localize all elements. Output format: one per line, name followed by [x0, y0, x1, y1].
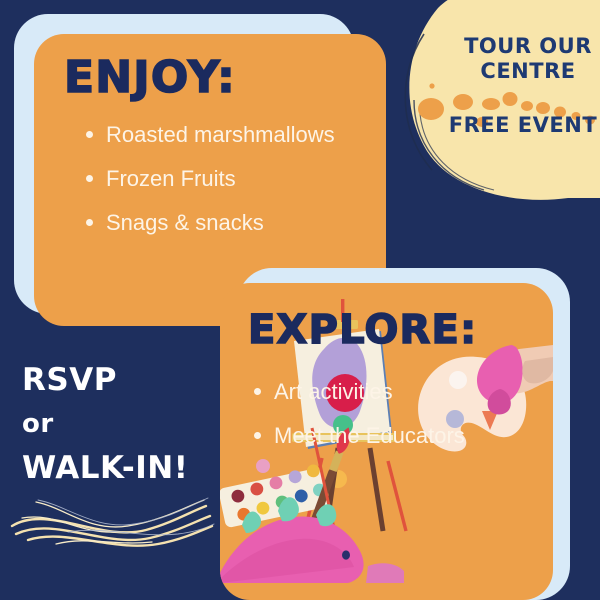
list-item: Art activities: [248, 379, 548, 405]
poster-canvas: ENJOY: Roasted marshmallows Frozen Fruit…: [0, 0, 600, 600]
blob-shape-icon: [398, 0, 600, 204]
list-item: Frozen Fruits: [80, 166, 350, 192]
list-item: Roasted marshmallows: [80, 122, 350, 148]
explore-list: Art activities Meet the Educators: [248, 379, 548, 467]
enjoy-heading: ENJOY:: [64, 52, 236, 103]
rsvp-block: RSVP or WALK-IN!: [22, 358, 188, 490]
tour-badge-blob: [398, 0, 600, 204]
badge-line-1: TOUR OUR CENTRE: [438, 34, 600, 84]
rsvp-line-2: or: [22, 402, 188, 446]
explore-heading: EXPLORE:: [248, 307, 477, 353]
list-item: Snags & snacks: [80, 210, 350, 236]
explore-card: EXPLORE: Art activities Meet the Educato…: [220, 283, 553, 600]
decorative-swoosh-icon: [8, 492, 218, 554]
list-item: Meet the Educators: [248, 423, 548, 449]
rsvp-line-1: RSVP: [22, 358, 188, 402]
rsvp-line-3: WALK-IN!: [22, 446, 188, 490]
enjoy-list: Roasted marshmallows Frozen Fruits Snags…: [80, 122, 350, 254]
badge-line-2: FREE EVENT!: [438, 113, 600, 138]
